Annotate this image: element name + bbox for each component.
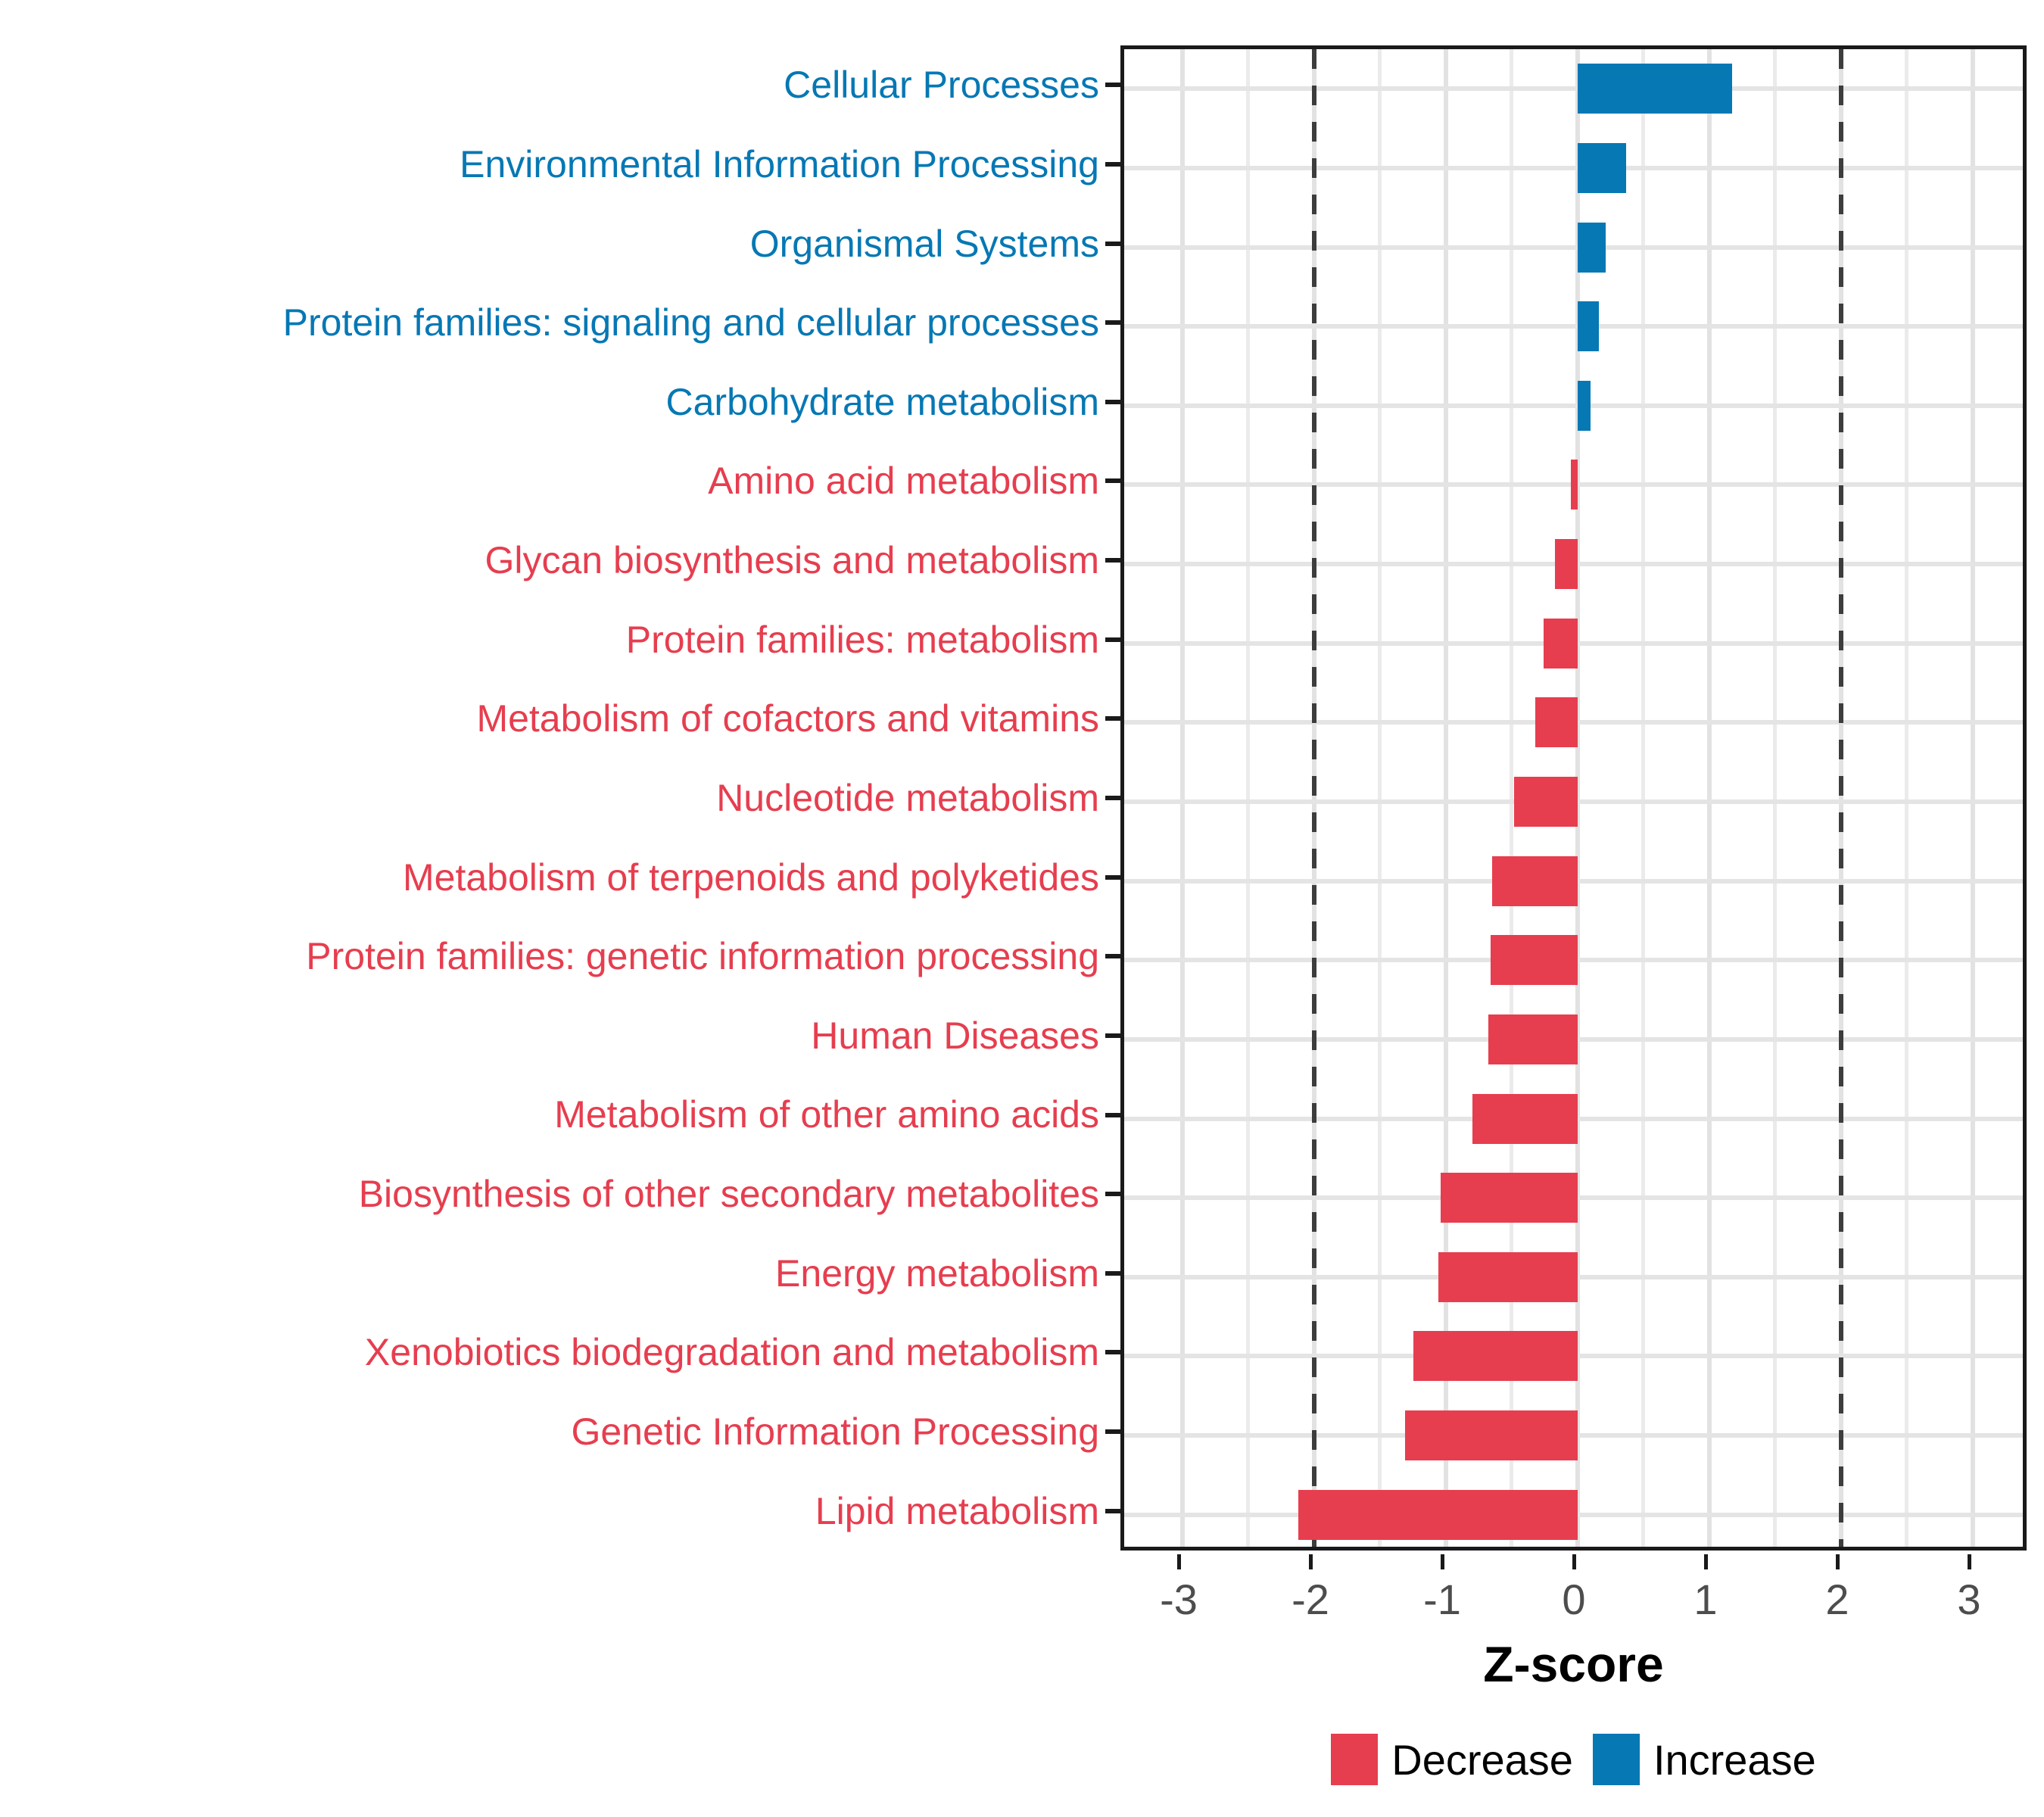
- category-label: Glycan biosynthesis and metabolism: [485, 541, 1100, 579]
- reference-line-plus2: [1839, 49, 1843, 1547]
- bar: [1413, 1331, 1578, 1381]
- y-axis-tick: [1105, 796, 1120, 800]
- category-label: Cellular Processes: [784, 66, 1099, 104]
- y-axis-tick: [1105, 1429, 1120, 1434]
- category-label: Nucleotide metabolism: [716, 779, 1099, 817]
- x-axis-tick-label: -1: [1423, 1575, 1461, 1624]
- category-label-row: Metabolism of cofactors and vitamins: [0, 679, 1113, 759]
- vertical-gridline: [1378, 49, 1382, 1547]
- bar: [1578, 301, 1599, 351]
- bar: [1535, 697, 1578, 747]
- category-axis-labels: Cellular ProcessesEnvironmental Informat…: [0, 45, 1113, 1551]
- vertical-gridline: [1905, 49, 1908, 1547]
- category-label-row: Protein families: genetic information pr…: [0, 917, 1113, 996]
- legend-swatch-decrease: [1331, 1734, 1378, 1785]
- legend-item-increase[interactable]: Increase: [1593, 1734, 1816, 1785]
- legend-swatch-increase: [1593, 1734, 1640, 1785]
- category-label-row: Lipid metabolism: [0, 1471, 1113, 1551]
- y-axis-tick: [1105, 1113, 1120, 1117]
- reference-line-minus2: [1312, 49, 1316, 1547]
- horizontal-gridline: [1124, 245, 2023, 250]
- bar: [1514, 777, 1578, 827]
- category-label-row: Glycan biosynthesis and metabolism: [0, 521, 1113, 600]
- category-label: Carbohydrate metabolism: [666, 383, 1100, 421]
- bar: [1578, 64, 1732, 114]
- category-label: Amino acid metabolism: [708, 462, 1099, 500]
- category-label: Lipid metabolism: [815, 1492, 1099, 1530]
- x-axis-tick: [1572, 1554, 1576, 1569]
- y-axis-tick: [1105, 954, 1120, 958]
- category-label: Metabolism of terpenoids and polyketides: [403, 859, 1099, 896]
- category-label: Protein families: metabolism: [626, 621, 1099, 659]
- y-axis-tick: [1105, 83, 1120, 87]
- x-axis-tick-label: 0: [1562, 1575, 1585, 1624]
- category-label: Metabolism of other amino acids: [554, 1095, 1099, 1133]
- y-axis-tick: [1105, 1271, 1120, 1276]
- category-label-row: Metabolism of terpenoids and polyketides: [0, 837, 1113, 917]
- category-label-row: Cellular Processes: [0, 45, 1113, 125]
- category-label-row: Protein families: metabolism: [0, 600, 1113, 679]
- vertical-gridline: [1773, 49, 1777, 1547]
- x-axis-tick-label: -3: [1160, 1575, 1198, 1624]
- y-axis-tick: [1105, 1192, 1120, 1196]
- vertical-gridline: [1444, 49, 1448, 1547]
- x-axis-tick-label: -2: [1292, 1575, 1329, 1624]
- y-axis-tick: [1105, 558, 1120, 563]
- bar: [1488, 1014, 1578, 1064]
- category-label-row: Nucleotide metabolism: [0, 759, 1113, 838]
- vertical-gridline: [1971, 49, 1975, 1547]
- category-label: Genetic Information Processing: [571, 1413, 1099, 1451]
- x-axis-tick: [1441, 1554, 1444, 1569]
- bar: [1472, 1094, 1578, 1144]
- category-label-row: Organismal Systems: [0, 204, 1113, 283]
- x-axis-title-wrapper: Z-score: [1120, 1635, 2027, 1693]
- horizontal-gridline: [1124, 86, 2023, 91]
- y-axis-tick: [1105, 400, 1120, 404]
- y-axis-tick: [1105, 478, 1120, 483]
- plot-panel: [1120, 45, 2027, 1551]
- y-axis-tick: [1105, 875, 1120, 880]
- category-label: Xenobiotics biodegradation and metabolis…: [365, 1333, 1099, 1371]
- category-label-row: Genetic Information Processing: [0, 1392, 1113, 1472]
- bar: [1438, 1252, 1578, 1302]
- bar: [1555, 539, 1578, 589]
- category-label-row: Protein families: signaling and cellular…: [0, 283, 1113, 363]
- x-axis-tick: [1177, 1554, 1181, 1569]
- x-axis-tick: [1309, 1554, 1313, 1569]
- bar: [1298, 1490, 1578, 1540]
- plot-area: [1124, 49, 2023, 1547]
- x-axis-tick: [1836, 1554, 1840, 1569]
- y-axis-tick: [1105, 716, 1120, 721]
- vertical-gridline: [1180, 49, 1185, 1547]
- bar: [1405, 1410, 1578, 1460]
- bar: [1578, 223, 1606, 273]
- bar: [1571, 460, 1578, 510]
- x-axis-tick: [1704, 1554, 1708, 1569]
- vertical-gridline: [1707, 49, 1712, 1547]
- bar: [1491, 935, 1578, 985]
- category-label-row: Xenobiotics biodegradation and metabolis…: [0, 1313, 1113, 1392]
- horizontal-gridline: [1124, 324, 2023, 329]
- category-label-row: Amino acid metabolism: [0, 441, 1113, 521]
- bar: [1441, 1173, 1578, 1223]
- category-label-row: Carbohydrate metabolism: [0, 363, 1113, 442]
- y-axis-tick: [1105, 242, 1120, 246]
- x-axis-tick-label: 2: [1825, 1575, 1849, 1624]
- category-label-row: Biosynthesis of other secondary metaboli…: [0, 1155, 1113, 1234]
- x-axis-tick: [1968, 1554, 1971, 1569]
- horizontal-gridline: [1124, 404, 2023, 408]
- bar: [1544, 619, 1578, 669]
- legend-item-decrease[interactable]: Decrease: [1331, 1734, 1573, 1785]
- category-label: Protein families: genetic information pr…: [306, 937, 1099, 975]
- bar: [1492, 856, 1578, 906]
- category-label: Energy metabolism: [775, 1254, 1099, 1292]
- category-label: Human Diseases: [811, 1017, 1099, 1055]
- x-axis-tick-label: 3: [1957, 1575, 1980, 1624]
- vertical-gridline: [1246, 49, 1250, 1547]
- y-axis-tick: [1105, 1509, 1120, 1513]
- category-label-row: Metabolism of other amino acids: [0, 1075, 1113, 1155]
- vertical-gridline: [1641, 49, 1645, 1547]
- horizontal-gridline: [1124, 166, 2023, 170]
- category-label: Organismal Systems: [750, 225, 1099, 263]
- category-label-row: Energy metabolism: [0, 1233, 1113, 1313]
- category-label: Metabolism of cofactors and vitamins: [476, 700, 1099, 737]
- category-label: Environmental Information Processing: [460, 145, 1099, 183]
- y-axis-tick: [1105, 637, 1120, 642]
- bar: [1578, 381, 1591, 431]
- vertical-gridline: [1510, 49, 1513, 1547]
- chart-root: Cellular ProcessesEnvironmental Informat…: [0, 0, 2044, 1817]
- y-axis-tick: [1105, 320, 1120, 325]
- y-axis-tick: [1105, 162, 1120, 167]
- legend-label: Increase: [1653, 1735, 1816, 1784]
- category-label-row: Human Diseases: [0, 996, 1113, 1076]
- legend-label: Decrease: [1391, 1735, 1573, 1784]
- category-label-row: Environmental Information Processing: [0, 125, 1113, 204]
- bar: [1578, 143, 1626, 193]
- category-label: Protein families: signaling and cellular…: [283, 304, 1099, 341]
- y-axis-tick: [1105, 1033, 1120, 1038]
- chart-legend: DecreaseIncrease: [1120, 1734, 2027, 1785]
- category-label: Biosynthesis of other secondary metaboli…: [359, 1175, 1099, 1213]
- y-axis-tick: [1105, 1350, 1120, 1354]
- x-axis-title: Z-score: [1483, 1636, 1663, 1692]
- x-axis-tick-label: 1: [1693, 1575, 1717, 1624]
